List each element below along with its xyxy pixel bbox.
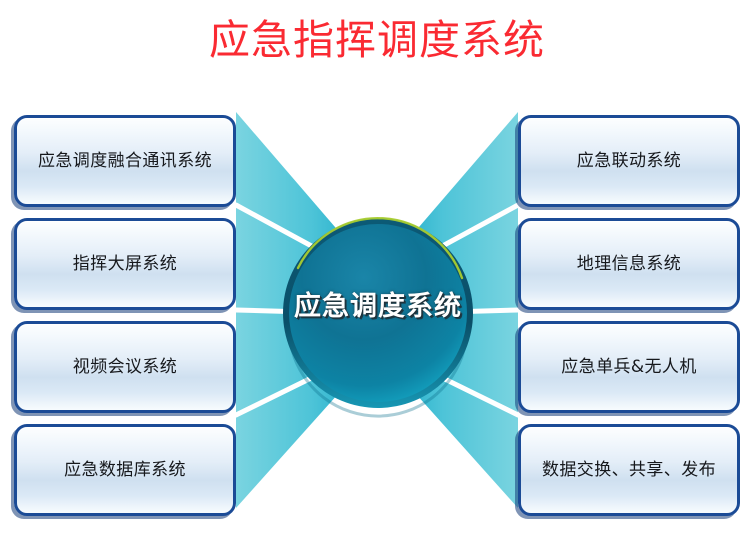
node-right-3[interactable]: 应急单兵&无人机 [518,321,740,413]
node-right-1[interactable]: 应急联动系统 [518,115,740,207]
diagram-canvas: 应急指挥调度系统 [0,0,754,550]
node-left-4-label: 应急数据库系统 [64,459,186,481]
node-right-3-label: 应急单兵&无人机 [561,356,696,378]
hub-circle-group [283,218,473,416]
node-left-3-label: 视频会议系统 [73,356,177,378]
hub-face [289,224,467,402]
node-left-1[interactable]: 应急调度融合通讯系统 [14,115,236,207]
node-left-2-label: 指挥大屏系统 [73,253,177,275]
node-right-2-label: 地理信息系统 [577,253,681,275]
node-right-1-label: 应急联动系统 [577,150,681,172]
node-left-4[interactable]: 应急数据库系统 [14,424,236,516]
node-right-2[interactable]: 地理信息系统 [518,218,740,310]
node-right-4[interactable]: 数据交换、共享、发布 [518,424,740,516]
node-left-3[interactable]: 视频会议系统 [14,321,236,413]
node-left-2[interactable]: 指挥大屏系统 [14,218,236,310]
node-left-1-label: 应急调度融合通讯系统 [38,150,212,172]
node-right-4-label: 数据交换、共享、发布 [542,459,716,481]
